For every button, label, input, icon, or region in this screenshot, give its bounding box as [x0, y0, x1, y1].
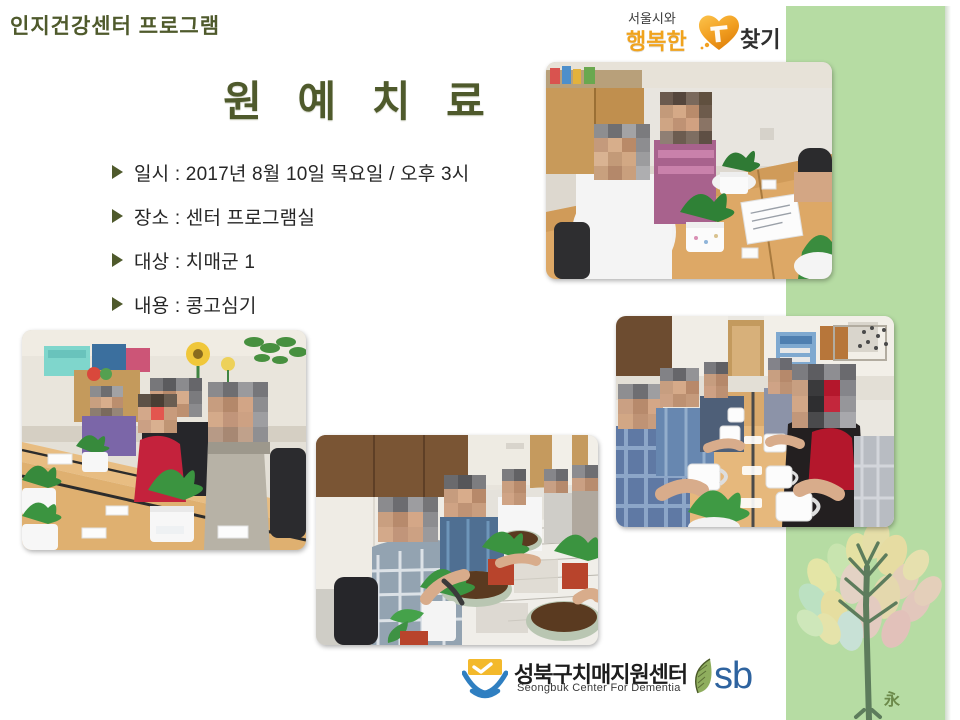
triangle-bullet-icon — [112, 253, 123, 267]
activity-photo-1 — [546, 62, 832, 279]
slide-main-title: 원 예 치 료 — [150, 68, 570, 129]
list-item: 내용 : 콩고심기 — [112, 282, 582, 326]
footer-logo-subtitle: Seongbuk Center For Dementia — [517, 682, 681, 694]
tree-signature: 永 — [883, 690, 900, 709]
activity-photo-2 — [22, 330, 306, 550]
triangle-bullet-icon — [112, 209, 123, 223]
list-item: 대상 : 치매군 1 — [112, 238, 582, 282]
triangle-bullet-icon — [112, 165, 123, 179]
triangle-bullet-icon — [112, 297, 123, 311]
info-list: 일시 : 2017년 8월 10일 목요일 / 오후 3시 장소 : 센터 프로… — [112, 150, 582, 326]
seoul-happy-logo: 서울시와 행복한 찾기 — [620, 6, 786, 56]
info-item-label: 장소 : 센터 프로그램실 — [134, 203, 315, 230]
activity-photo-4 — [616, 316, 894, 527]
seongbuk-center-logo: 성북구치매지원센터 Seongbuk Center For Dementia s… — [462, 655, 768, 705]
list-item: 일시 : 2017년 8월 10일 목요일 / 오후 3시 — [112, 150, 582, 194]
presentation-slide: 永 인지건강센터 프로그램 서울시와 행복한 — [0, 0, 960, 720]
seongbuk-mark-icon — [462, 657, 508, 699]
page-title: 인지건강센터 프로그램 — [10, 10, 220, 40]
seoul-logo-line3: 찾기 — [740, 22, 780, 54]
activity-photo-3 — [316, 435, 598, 645]
heart-icon — [698, 14, 740, 52]
info-item-label: 일시 : 2017년 8월 10일 목요일 / 오후 3시 — [134, 159, 469, 186]
list-item: 장소 : 센터 프로그램실 — [112, 194, 582, 238]
seoul-logo-line2: 행복한 — [626, 24, 687, 56]
footer-logo-sb-text: sb — [714, 655, 752, 698]
info-item-label: 대상 : 치매군 1 — [134, 247, 255, 274]
info-item-label: 내용 : 콩고심기 — [134, 291, 257, 318]
tree-illustration: 永 — [792, 505, 948, 720]
